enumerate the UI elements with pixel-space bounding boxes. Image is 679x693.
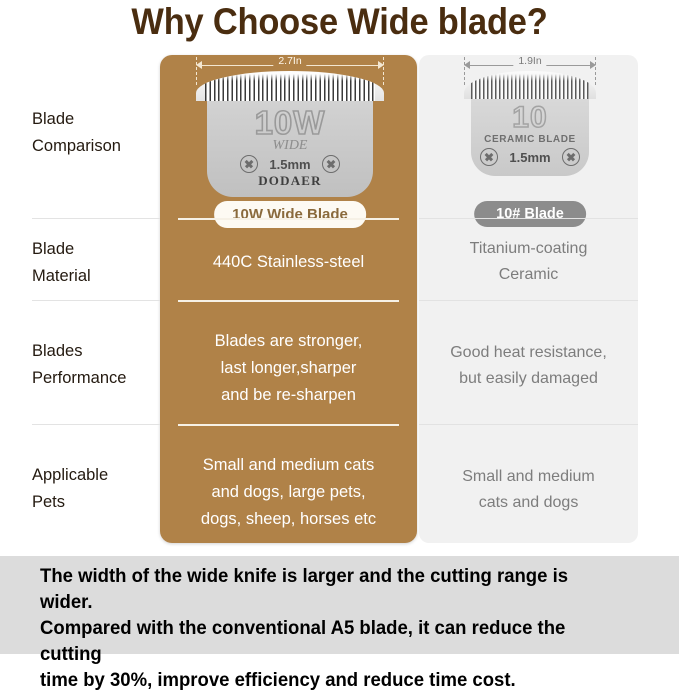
row-label-blade-comparison: Blade Comparison [32, 106, 164, 160]
blade-brand: DODAER [207, 173, 372, 189]
cell-line: and be re-sharpen [166, 382, 411, 409]
screw-icon [322, 155, 340, 173]
cell-line: Blades are stronger, [166, 328, 411, 355]
blade-subtitle: WIDE [207, 138, 372, 154]
dimension-label: 2.7In [273, 55, 306, 67]
standard-blade-illustration: 1.9In 10 CERAMIC BLADE 1.5mm 10# Blade [464, 57, 596, 205]
cell-line: dogs, sheep, horses etc [166, 506, 411, 533]
cell-wide-material: 440C Stainless-steel [166, 249, 411, 276]
cell-wide-performance: Blades are stronger, last longer,sharper… [166, 328, 411, 409]
cell-line: and dogs, large pets, [166, 479, 411, 506]
row-label-line2: Material [32, 263, 164, 290]
cell-line: Small and medium cats [166, 452, 411, 479]
row-label-blade-material: Blade Material [32, 236, 164, 290]
row-label-line2: Performance [32, 365, 164, 392]
blade-plate: 10W WIDE 1.5mm DODAER [207, 101, 372, 197]
blade-size: 1.5mm [509, 150, 550, 165]
blade-spec-row: 1.5mm [471, 148, 590, 166]
blade-size: 1.5mm [269, 157, 310, 172]
blade-teeth [464, 71, 596, 99]
cell-line: Ceramic [423, 262, 634, 288]
screw-icon [562, 148, 580, 166]
screw-icon [240, 155, 258, 173]
cell-line: last longer,sharper [166, 355, 411, 382]
row-label-line1: Blade [32, 106, 164, 133]
row-label-line1: Blade [32, 236, 164, 263]
row-applicable-pets: Applicable Pets Small and medium cats an… [0, 424, 679, 550]
blade-subtitle: CERAMIC BLADE [471, 134, 590, 145]
wide-blade-illustration: 2.7In 10W WIDE 1.5mm DODAER 10W Wi [196, 57, 384, 205]
row-label-line1: Blades [32, 338, 164, 365]
cell-standard-performance: Good heat resistance, but easily damaged [423, 340, 634, 392]
row-label-blades-performance: Blades Performance [32, 338, 164, 392]
standard-blade-body: 10 CERAMIC BLADE 1.5mm [464, 71, 596, 176]
row-blade-material: Blade Material 440C Stainless-steel Tita… [0, 218, 679, 300]
row-label-line2: Comparison [32, 133, 164, 160]
cell-line: cats and dogs [423, 490, 634, 516]
row-label-applicable-pets: Applicable Pets [32, 462, 164, 516]
blade-number: 10W [207, 106, 372, 139]
cell-line: but easily damaged [423, 366, 634, 392]
blade-teeth-comb [205, 74, 374, 101]
note-line1: The width of the wide knife is larger an… [40, 563, 614, 615]
blade-teeth [196, 71, 384, 101]
comparison-table: Blade Comparison 2.7In 10W WIDE [0, 48, 679, 550]
blade-number: 10 [471, 103, 590, 133]
cell-standard-pets: Small and medium cats and dogs [423, 464, 634, 516]
cell-line: Small and medium [423, 464, 634, 490]
cell-line: Good heat resistance, [423, 340, 634, 366]
cell-standard-material: Titanium-coating Ceramic [423, 236, 634, 288]
blade-spec-row: 1.5mm [207, 155, 372, 173]
row-label-line1: Applicable [32, 462, 164, 489]
wide-blade-body: 10W WIDE 1.5mm DODAER [196, 71, 384, 197]
dimension-label: 1.9In [513, 55, 546, 67]
screw-icon [480, 148, 498, 166]
cell-line: 440C Stainless-steel [166, 249, 411, 276]
note-line3: time by 30%, improve efficiency and redu… [40, 667, 614, 693]
row-blade-comparison: Blade Comparison 2.7In 10W WIDE [0, 48, 679, 214]
row-blades-performance: Blades Performance Blades are stronger, … [0, 300, 679, 424]
cell-wide-pets: Small and medium cats and dogs, large pe… [166, 452, 411, 533]
bottom-note-band: The width of the wide knife is larger an… [0, 556, 679, 654]
blade-teeth-comb [471, 74, 590, 99]
note-line2: Compared with the conventional A5 blade,… [40, 615, 614, 667]
blade-plate: 10 CERAMIC BLADE 1.5mm [471, 99, 590, 176]
bottom-note-text: The width of the wide knife is larger an… [40, 563, 614, 693]
page-title: Why Choose Wide blade? [24, 0, 655, 48]
cell-line: Titanium-coating [423, 236, 634, 262]
row-label-line2: Pets [32, 489, 164, 516]
